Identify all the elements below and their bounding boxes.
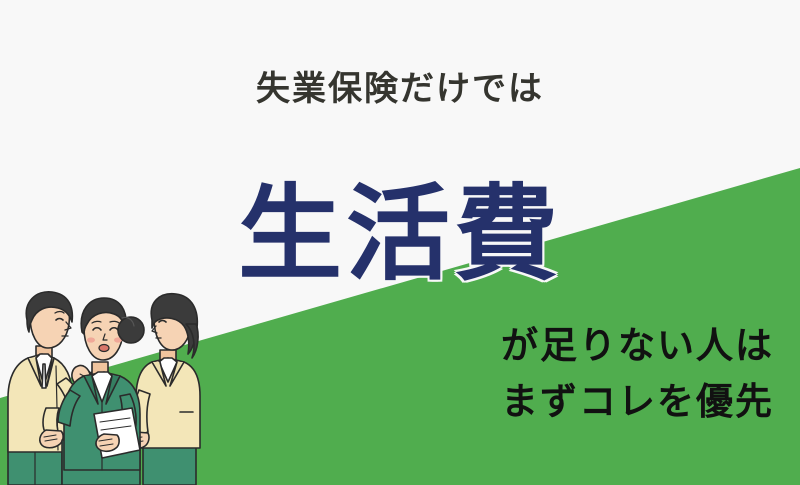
headline-bottom-line-1: が足りない人は xyxy=(501,318,774,374)
headline-bottom-block: が足りない人は まずコレを優先 xyxy=(501,318,774,429)
three-people-talking-illustration xyxy=(0,290,225,485)
banner-root: 失業保険だけでは 生活費 が足りない人は まずコレを優先 xyxy=(0,0,800,485)
figure-center-woman xyxy=(58,298,144,485)
headline-top-line: 失業保険だけでは xyxy=(0,72,800,106)
headline-bottom-line-2: まずコレを優先 xyxy=(501,374,774,430)
headline-main-title: 生活費 xyxy=(0,180,800,289)
